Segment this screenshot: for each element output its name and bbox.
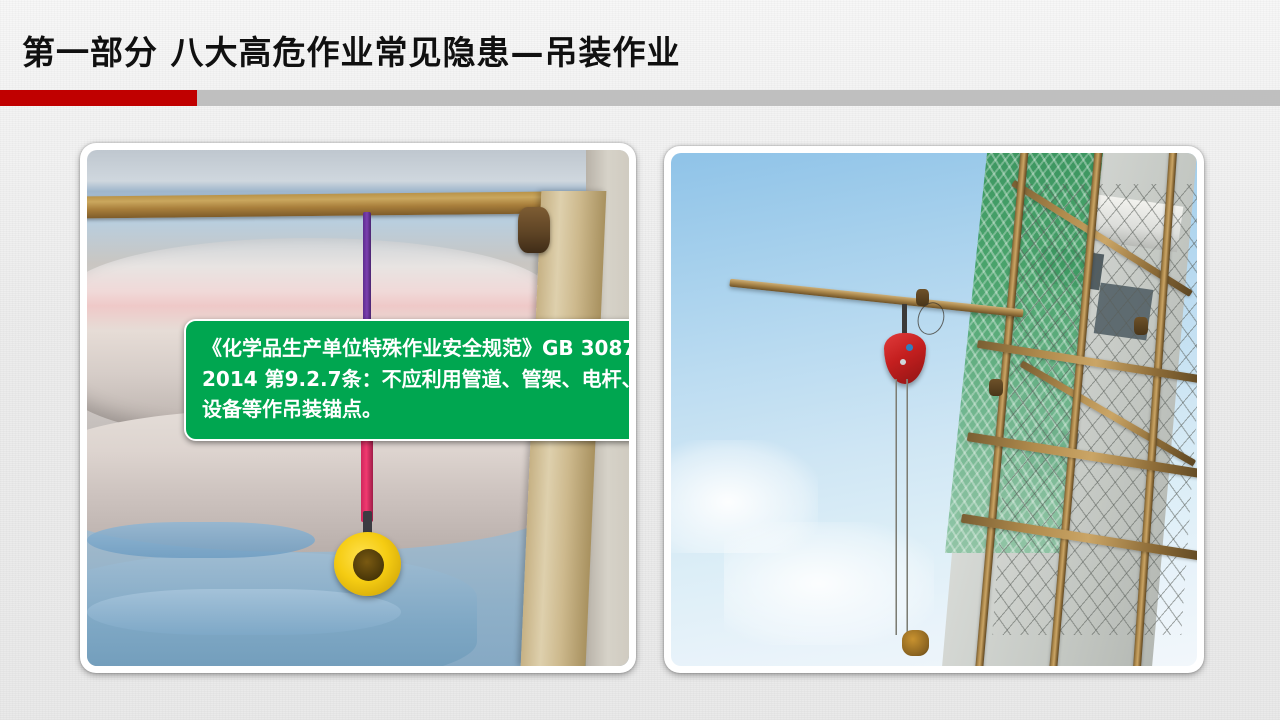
- photo-frame-right: 吊装使用的滑轮安装在脚手架上 《建筑施工脚手架安全技术统一标准》GB 51210…: [664, 146, 1204, 673]
- photo-frame-left: 《化学品生产单位特殊作业安全规范》GB 30871-2014 第9.2.7条：不…: [80, 143, 636, 673]
- page-title: 第一部分 八大高危作业常见隐患—吊装作业: [22, 26, 681, 74]
- hoist-rope-icon-2: [906, 379, 908, 641]
- scaffold-pulley-photo: [671, 153, 1197, 666]
- divider: [0, 90, 1280, 106]
- photo-right: 吊装使用的滑轮安装在脚手架上 《建筑施工脚手架安全技术统一标准》GB 51210…: [671, 153, 1197, 666]
- cloud-icon-2: [724, 522, 934, 645]
- regulation-text-left: 《化学品生产单位特殊作业安全规范》GB 30871-2014 第9.2.7条：不…: [202, 333, 629, 424]
- regulation-callout-left: 《化学品生产单位特殊作业安全规范》GB 30871-2014 第9.2.7条：不…: [184, 319, 629, 441]
- pulley-pin-icon-2: [900, 359, 906, 365]
- pipe-clamp-icon: [518, 207, 551, 253]
- sling-strap-icon: [363, 212, 371, 326]
- rusty-beam-icon: [87, 191, 553, 218]
- hoist-rope-icon: [895, 379, 897, 636]
- gray-accent-bar: [197, 90, 1280, 106]
- chain-hoist-icon: [334, 532, 402, 597]
- hoist-core-icon: [353, 549, 384, 581]
- suspended-load-icon: [902, 630, 928, 656]
- pulley-pin-icon: [906, 344, 914, 351]
- pulley-block-icon: [884, 333, 926, 384]
- photo-left: 《化学品生产单位特殊作业安全规范》GB 30871-2014 第9.2.7条：不…: [87, 150, 629, 666]
- floor-stripe-icon: [87, 522, 315, 558]
- floor-stripe2-icon: [87, 589, 401, 635]
- coupler-icon-2: [989, 379, 1003, 396]
- slide-canvas: 第一部分 八大高危作业常见隐患—吊装作业: [0, 0, 1280, 720]
- coupler-icon-3: [1134, 317, 1148, 334]
- red-accent-bar: [0, 90, 197, 106]
